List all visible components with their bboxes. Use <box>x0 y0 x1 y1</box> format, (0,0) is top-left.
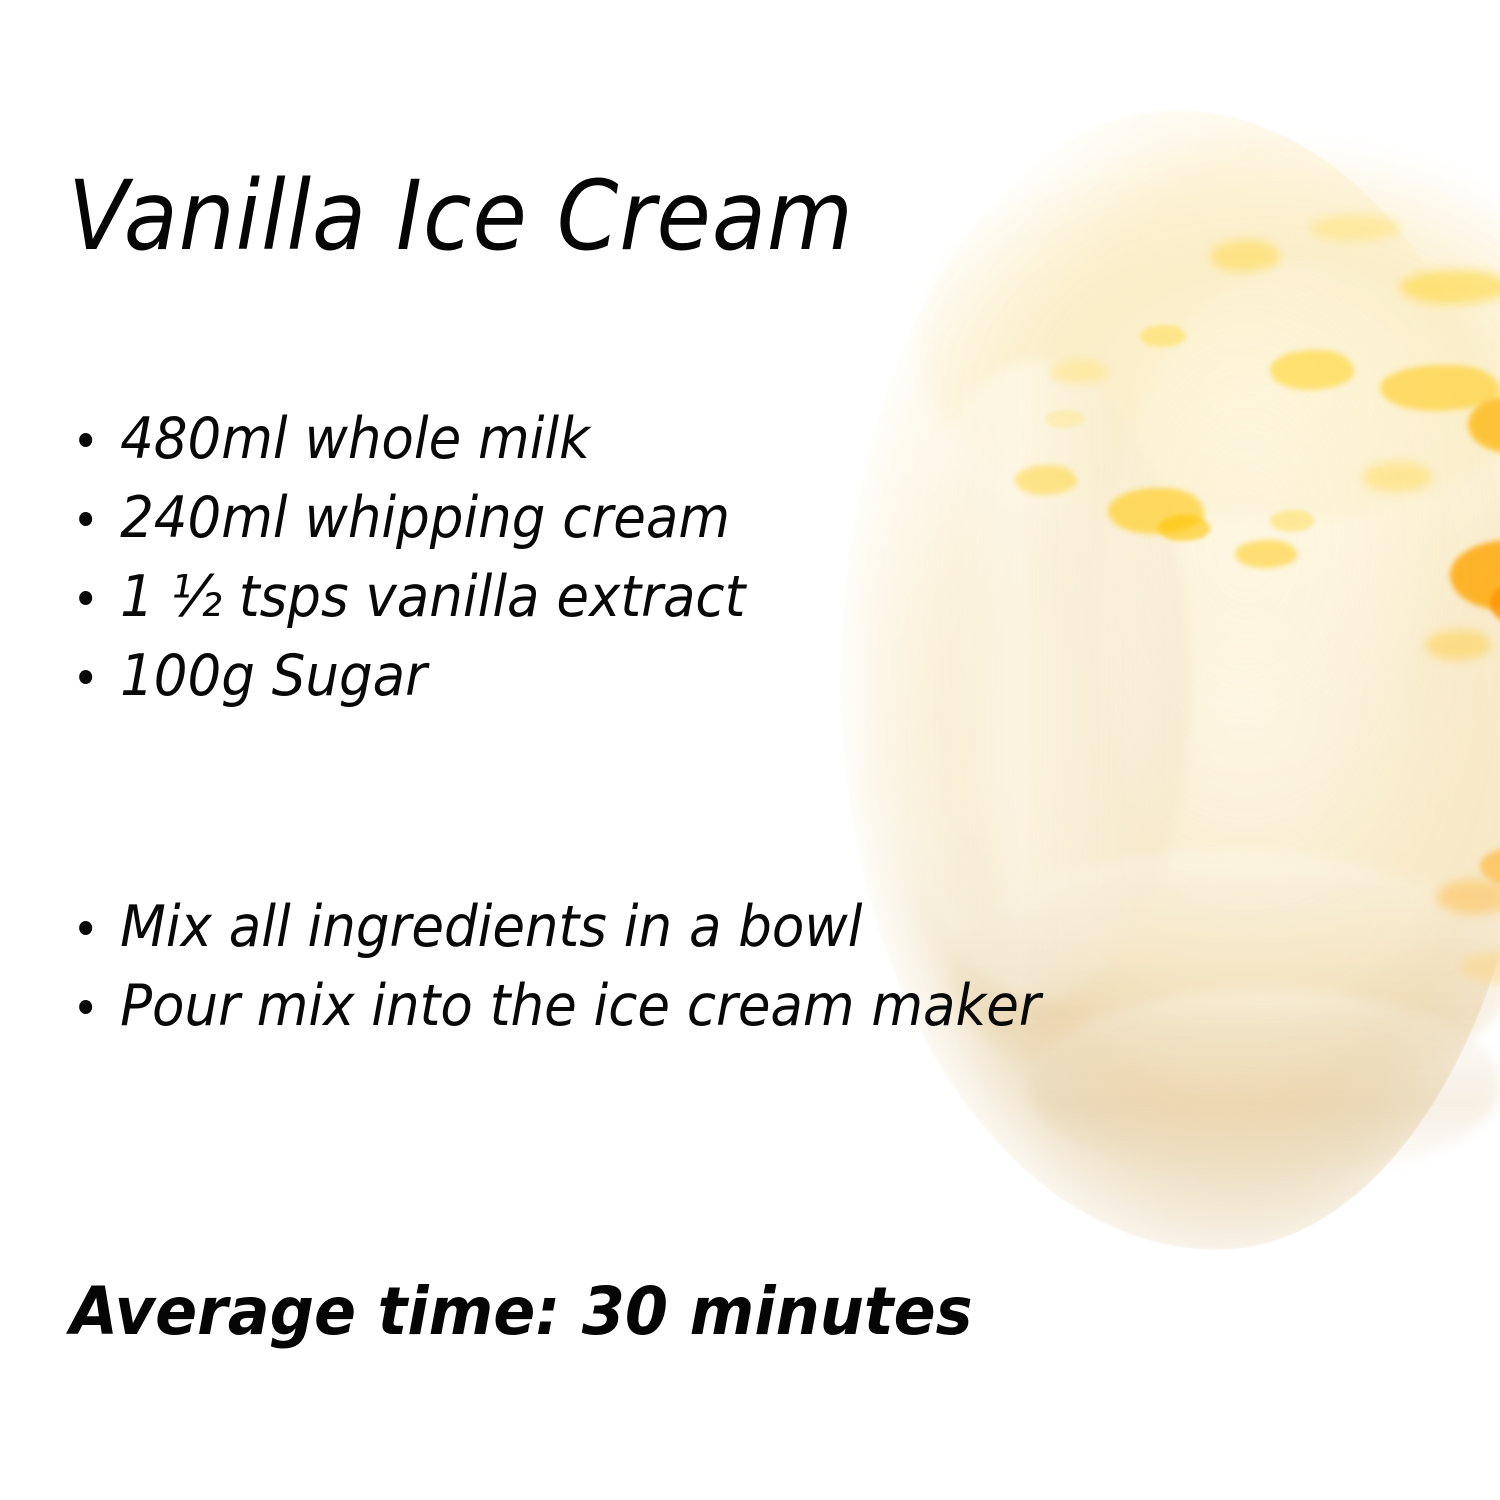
vanilla-fleck <box>1490 580 1500 626</box>
recipe-card: Vanilla Ice Cream 480ml whole milk 240ml… <box>0 0 1500 1500</box>
scoop-highlight <box>920 100 1500 520</box>
vanilla-fleck <box>1270 350 1354 390</box>
vanilla-fleck <box>1015 465 1077 495</box>
vanilla-fleck <box>1468 395 1500 453</box>
vanilla-fleck <box>1436 880 1500 914</box>
vanilla-fleck <box>1362 462 1432 492</box>
vanilla-fleck <box>1045 410 1085 428</box>
list-item: Pour mix into the ice cream maker <box>68 967 1041 1046</box>
vanilla-fleck <box>1210 240 1280 272</box>
scoop-body <box>840 110 1500 1250</box>
list-item: 1 ½ tsps vanilla extract <box>68 558 745 637</box>
average-time-label: Average time: 30 minutes <box>70 1272 973 1351</box>
vanilla-fleck <box>1310 215 1400 241</box>
list-item: 100g Sugar <box>68 637 745 716</box>
scoop-ridge-center <box>1100 260 1500 960</box>
vanilla-fleck <box>1108 488 1204 534</box>
vanilla-fleck <box>1460 950 1500 984</box>
instructions-list: Mix all ingredients in a bowl Pour mix i… <box>68 888 1114 1046</box>
vanilla-fleck <box>1425 630 1491 660</box>
page-title: Vanilla Ice Cream <box>68 168 854 264</box>
vanilla-fleck <box>1400 270 1500 304</box>
list-item: 240ml whipping cream <box>68 479 745 558</box>
vanilla-fleck <box>1140 325 1186 347</box>
vanilla-fleck <box>1380 365 1500 411</box>
ice-cream-scoop-image <box>800 60 1500 1240</box>
list-item: 480ml whole milk <box>68 400 745 479</box>
vanilla-fleck <box>1270 510 1314 532</box>
vanilla-fleck <box>1050 360 1108 384</box>
list-item: Mix all ingredients in a bowl <box>68 888 1041 967</box>
vanilla-fleck <box>1450 540 1500 610</box>
ingredients-list: 480ml whole milk 240ml whipping cream 1 … <box>68 400 796 716</box>
vanilla-fleck <box>1158 515 1210 541</box>
vanilla-fleck <box>1480 845 1500 887</box>
vanilla-fleck <box>1235 540 1297 568</box>
